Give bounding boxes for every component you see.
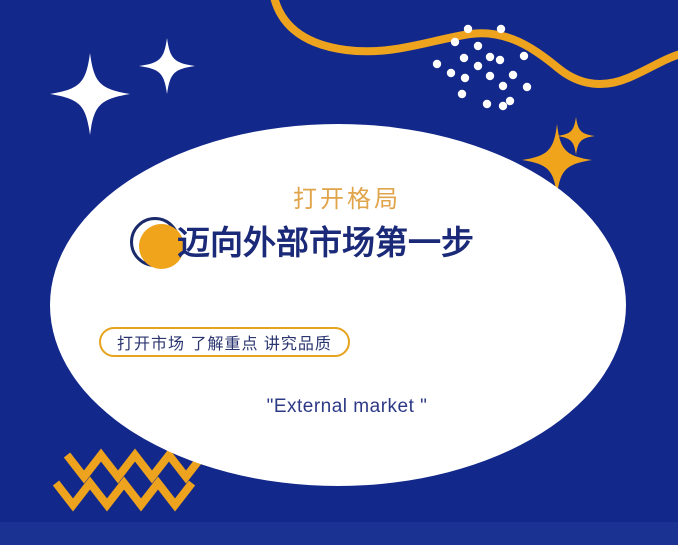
tagline-pill-text: 打开市场 了解重点 讲究品质 [117,330,332,354]
eyebrow-text: 打开格局 [50,179,626,214]
page-title: 迈向外部市场第一步 [177,215,474,271]
tagline-pill: 打开市场 了解重点 讲究品质 [99,327,350,357]
title-row: 迈向外部市场第一步 [130,215,610,285]
bottom-accent-bar [0,522,678,545]
poster-canvas: 打开格局 迈向外部市场第一步 打开市场 了解重点 讲究品质 "External … [0,0,678,545]
english-caption: "External market " [50,396,626,418]
poster-content: 打开格局 迈向外部市场第一步 打开市场 了解重点 讲究品质 "External … [50,124,626,486]
